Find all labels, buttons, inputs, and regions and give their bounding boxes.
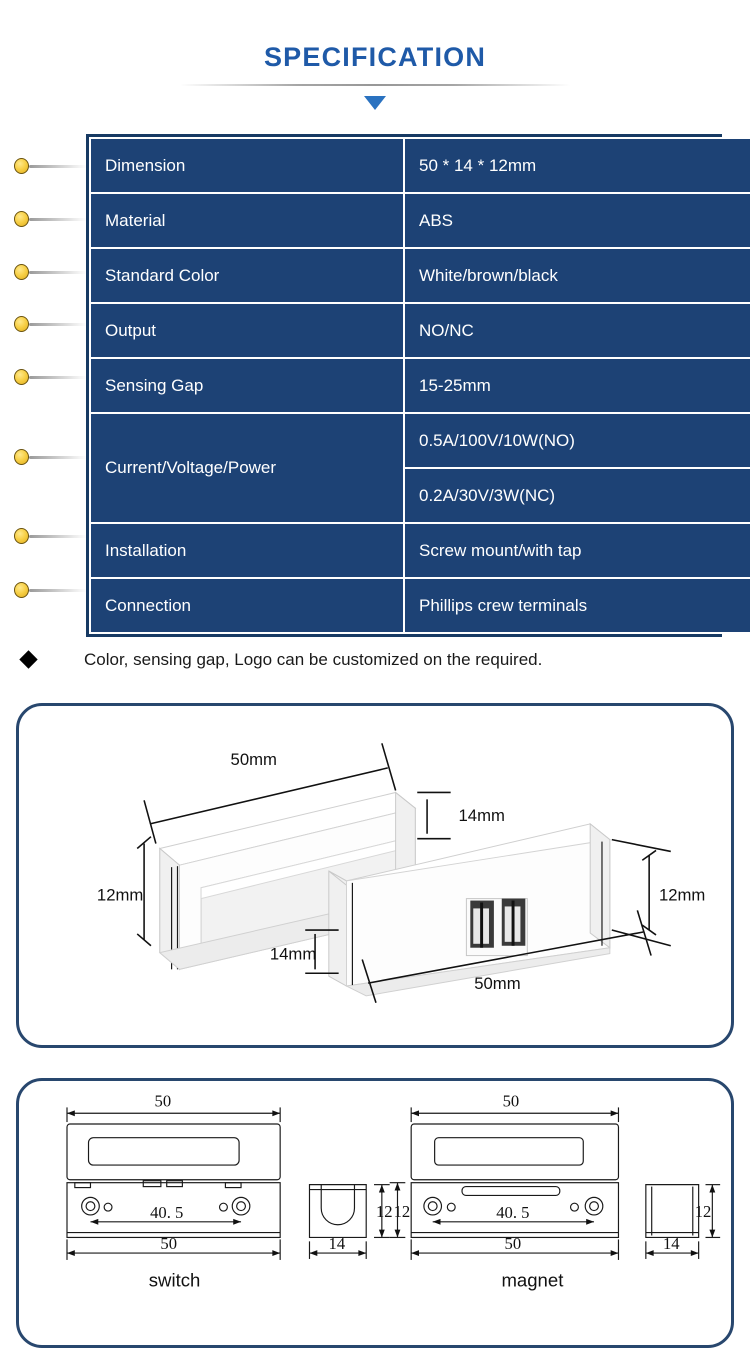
pin-dot-icon bbox=[14, 158, 29, 174]
pin-dot-icon bbox=[14, 264, 29, 280]
magnet-bottom-length-label: 50 bbox=[505, 1234, 522, 1253]
spec-key-sensing-gap: Sensing Gap bbox=[90, 358, 404, 413]
left-dim-width-label: 14mm bbox=[459, 806, 505, 825]
specification-table: Dimension 50 * 14 * 12mm Material ABS St… bbox=[86, 134, 722, 637]
switch-bottom-length-label: 50 bbox=[160, 1234, 177, 1253]
spec-value-sensing-gap: 15-25mm bbox=[404, 358, 750, 413]
spec-key-installation: Installation bbox=[90, 523, 404, 578]
page-title-block: SPECIFICATION bbox=[0, 40, 750, 90]
switch-side-width-label: 14 bbox=[329, 1234, 346, 1253]
magnet-drawing: 50 40. 5 12 bbox=[376, 1091, 720, 1290]
pin-marker-current-voltage-power bbox=[14, 447, 90, 467]
title-divider-rule bbox=[180, 80, 570, 90]
switch-top-length-label: 50 bbox=[155, 1091, 172, 1110]
left-dim-height: 12mm bbox=[97, 837, 151, 946]
pin-dot-icon bbox=[14, 449, 29, 465]
magnet-side-width-label: 14 bbox=[663, 1234, 680, 1253]
pin-marker-material bbox=[14, 209, 90, 229]
pin-dot-icon bbox=[14, 582, 29, 598]
spec-key-dimension: Dimension bbox=[90, 138, 404, 193]
switch-caption: switch bbox=[149, 1269, 201, 1290]
pin-dot-icon bbox=[14, 528, 29, 544]
pin-marker-dimension bbox=[14, 156, 90, 176]
right-dim-width-label: 14mm bbox=[270, 945, 316, 964]
switch-hole-spacing-label: 40. 5 bbox=[150, 1203, 183, 1222]
pin-marker-sensing-gap bbox=[14, 367, 90, 387]
spec-key-standard-color: Standard Color bbox=[90, 248, 404, 303]
pin-tail-line bbox=[29, 165, 87, 168]
pin-tail-line bbox=[29, 535, 87, 538]
spec-value-connection: Phillips crew terminals bbox=[404, 578, 750, 633]
customization-note: Color, sensing gap, Logo can be customiz… bbox=[14, 648, 734, 674]
customization-note-text: Color, sensing gap, Logo can be customiz… bbox=[84, 648, 542, 672]
spec-value-dimension: 50 * 14 * 12mm bbox=[404, 138, 750, 193]
pin-marker-installation bbox=[14, 526, 90, 546]
table-row: Dimension 50 * 14 * 12mm bbox=[90, 138, 750, 193]
pin-tail-line bbox=[29, 271, 87, 274]
spec-key-material: Material bbox=[90, 193, 404, 248]
pin-tail-line bbox=[29, 323, 87, 326]
left-dim-width: 14mm bbox=[417, 792, 505, 838]
technical-drawing-panel: 50 40. 5 bbox=[16, 1078, 734, 1348]
table-row: Output NO/NC bbox=[90, 303, 750, 358]
pin-marker-standard-color bbox=[14, 262, 90, 282]
pin-dot-icon bbox=[14, 369, 29, 385]
magnet-hole-spacing-label: 40. 5 bbox=[496, 1203, 529, 1222]
pin-tail-line bbox=[29, 589, 87, 592]
right-dim-length-label: 50mm bbox=[474, 974, 520, 993]
switch-drawing: 50 40. 5 bbox=[67, 1091, 410, 1290]
spec-value-standard-color: White/brown/black bbox=[404, 248, 750, 303]
magnet-top-length-label: 50 bbox=[503, 1091, 520, 1110]
spec-value-installation: Screw mount/with tap bbox=[404, 523, 750, 578]
pin-tail-line bbox=[29, 456, 87, 459]
table-row: Sensing Gap 15-25mm bbox=[90, 358, 750, 413]
table-row: Connection Phillips crew terminals bbox=[90, 578, 750, 633]
pin-dot-icon bbox=[14, 211, 29, 227]
pin-dot-icon bbox=[14, 316, 29, 332]
spec-value-output: NO/NC bbox=[404, 303, 750, 358]
left-dim-height-label: 12mm bbox=[97, 886, 143, 905]
magnet-caption: magnet bbox=[501, 1269, 564, 1290]
pin-marker-output bbox=[14, 314, 90, 334]
diamond-bullet-icon bbox=[19, 650, 37, 668]
table-row: Installation Screw mount/with tap bbox=[90, 523, 750, 578]
pin-tail-line bbox=[29, 376, 87, 379]
table-row: Current/Voltage/Power 0.5A/100V/10W(NO) bbox=[90, 413, 750, 468]
spec-value-current-voltage-power-nc: 0.2A/30V/3W(NC) bbox=[404, 468, 750, 523]
pin-tail-line bbox=[29, 218, 87, 221]
right-dim-height: 12mm bbox=[612, 840, 706, 946]
technical-drawings: 50 40. 5 bbox=[19, 1081, 731, 1345]
page-title: SPECIFICATION bbox=[0, 40, 750, 74]
spec-value-current-voltage-power-no: 0.5A/100V/10W(NO) bbox=[404, 413, 750, 468]
spec-key-output: Output bbox=[90, 303, 404, 358]
pin-marker-connection bbox=[14, 580, 90, 600]
spec-value-material: ABS bbox=[404, 193, 750, 248]
spec-key-current-voltage-power: Current/Voltage/Power bbox=[90, 413, 404, 523]
caret-down-icon bbox=[364, 96, 386, 110]
table-row: Material ABS bbox=[90, 193, 750, 248]
product-3d-illustration: 50mm 12mm 14mm bbox=[19, 706, 731, 1045]
right-dim-height-label: 12mm bbox=[659, 886, 705, 905]
table-row: Standard Color White/brown/black bbox=[90, 248, 750, 303]
magnet-side-height-right-label: 12 bbox=[695, 1202, 712, 1221]
product-3d-panel: 50mm 12mm 14mm bbox=[16, 703, 734, 1048]
spec-key-connection: Connection bbox=[90, 578, 404, 633]
magnet-side-height-left-label: 12 bbox=[376, 1202, 393, 1221]
switch-side-height-label: 12 bbox=[394, 1202, 411, 1221]
left-dim-length-label: 50mm bbox=[231, 750, 277, 769]
